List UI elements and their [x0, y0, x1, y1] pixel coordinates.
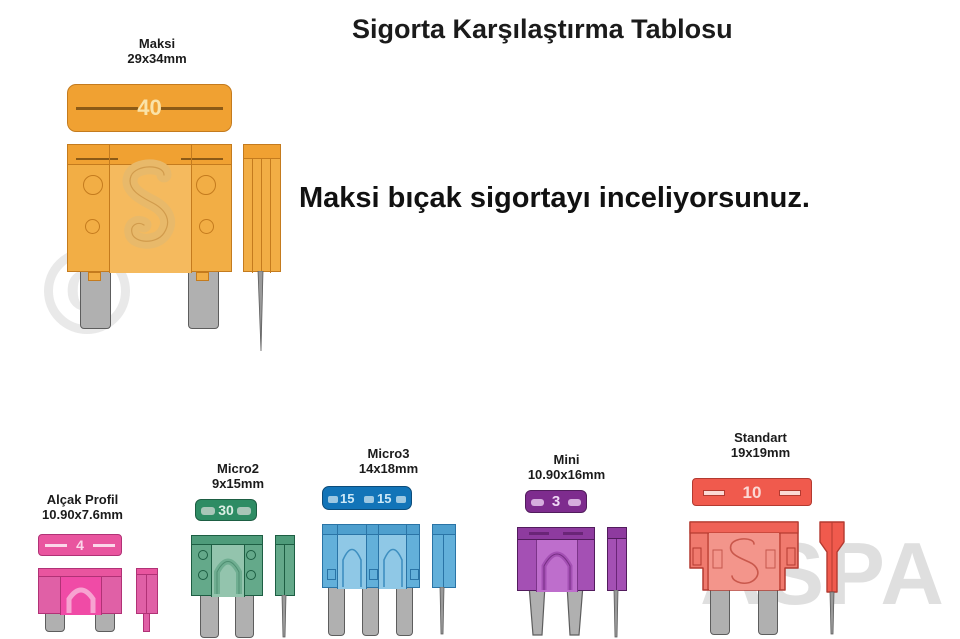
fuse-micro3-slot-right — [396, 496, 406, 503]
fuse-maksi-sideview — [243, 144, 291, 354]
fuse-maksi-element-icon — [68, 145, 233, 273]
headline-text: Maksi bıçak sigortayı inceliyorsunuz. — [299, 182, 810, 215]
fuse-standart-body — [688, 520, 800, 592]
fuse-micro3-element-icon — [323, 525, 421, 589]
fuse-standart-frontview — [688, 520, 800, 638]
fuse-alcak-profil-rating: 4 — [76, 538, 84, 552]
fuse-micro3-topview: 15 15 — [322, 486, 412, 510]
fuse-standart-topview: 10 — [692, 478, 812, 506]
fuse-micro2-body — [191, 535, 263, 596]
fuse-maksi-slot-left — [76, 107, 138, 110]
fuse-micro2-slot-right — [237, 507, 251, 515]
fuse-mini-slot-left — [531, 499, 544, 506]
fuse-maksi-frontview — [67, 144, 232, 329]
fuse-alcak-profil-side-body — [136, 568, 158, 614]
fuse-maksi-joint-right — [196, 272, 209, 281]
fuse-micro3-rating: 15 — [340, 492, 354, 505]
fuse-micro2-side-cap — [276, 536, 294, 545]
fuse-micro2-frontview — [191, 535, 263, 639]
fuse-alcak-profil-slot-right — [93, 544, 115, 547]
page-title: Sigorta Karşılaştırma Tablosu — [352, 14, 733, 45]
fuse-alcak-profil-element-icon — [39, 569, 123, 615]
fuse-micro3-body — [322, 524, 420, 588]
fuse-micro3-side-blade — [437, 587, 453, 637]
fuse-maksi-name: Maksi — [77, 36, 237, 51]
fuse-micro3-blade-left — [328, 584, 345, 636]
fuse-micro2-rating: 30 — [218, 503, 234, 517]
fuse-alcak-profil-dimensions: 10.90x7.6mm — [20, 507, 145, 522]
fuse-alcak-profil-side-line — [146, 575, 147, 615]
fuse-maksi-slot-right — [161, 107, 223, 110]
fuse-alcak-profil-side-blade — [143, 613, 150, 632]
fuse-maksi-dimensions: 29x34mm — [77, 51, 237, 66]
fuse-alcak-profil-topview: 4 — [38, 534, 122, 556]
fuse-mini-side-line — [616, 539, 617, 592]
fuse-mini[interactable]: Mini 10.90x16mm 3 — [498, 452, 638, 639]
fuse-micro3-frontview — [322, 524, 420, 637]
fuse-micro2[interactable]: Micro2 9x15mm 30 — [183, 461, 318, 639]
fuse-maksi-side-line-1 — [252, 159, 253, 273]
fuse-micro2-side-line — [284, 545, 285, 597]
fuse-maksi-side-blade — [256, 271, 276, 353]
fuse-standart-side-body — [816, 520, 856, 638]
fuse-micro2-dimensions: 9x15mm — [183, 476, 293, 491]
fuse-micro3-slot-mid — [364, 496, 374, 503]
fuse-mini-topview: 3 — [525, 490, 587, 513]
fuse-alcak-profil-frontview — [38, 568, 122, 634]
fuse-micro3-slot-left — [328, 496, 338, 503]
fuse-maksi-body — [67, 144, 232, 272]
fuse-standart-slot-left — [703, 490, 725, 496]
fuse-mini-sideview — [603, 527, 637, 639]
fuse-standart-sideview — [816, 520, 856, 638]
fuse-micro2-side-body — [275, 535, 295, 596]
fuse-mini-side-body — [607, 527, 627, 591]
fuse-maksi-rating: 40 — [137, 97, 161, 119]
fuse-mini-side-cap — [608, 528, 626, 539]
fuse-micro2-blade-left — [200, 590, 219, 638]
fuse-micro2-blade-right — [235, 590, 254, 638]
fuse-standart-dimensions: 19x19mm — [698, 445, 823, 460]
fuse-mini-slot-right — [568, 499, 581, 506]
fuse-micro3-side-line — [443, 535, 444, 589]
fuse-micro2-side-blade — [279, 595, 295, 639]
fuse-maksi-topview: 40 — [67, 84, 232, 132]
fuse-standart-slot-right — [779, 490, 801, 496]
fuse-mini-name: Mini — [504, 452, 629, 467]
fuse-micro3-side-body — [432, 524, 456, 588]
fuse-standart-rating: 10 — [743, 484, 762, 501]
fuse-standart-name: Standart — [698, 430, 823, 445]
fuse-mini-element-icon — [518, 528, 596, 592]
fuse-micro3-dimensions: 14x18mm — [326, 461, 451, 476]
fuse-maksi-side-line-3 — [270, 159, 271, 273]
fuse-alcak-profil[interactable]: Alçak Profil 10.90x7.6mm 4 — [20, 492, 170, 639]
fuse-micro3-blade-mid — [362, 584, 379, 636]
fuse-mini-rating: 3 — [552, 494, 560, 509]
fuse-micro3-name: Micro3 — [326, 446, 451, 461]
fuse-mini-dimensions: 10.90x16mm — [504, 467, 629, 482]
fuse-micro3-rating-secondary: 15 — [377, 492, 391, 505]
fuse-mini-body — [517, 527, 595, 591]
fuse-micro3-blade-right — [396, 584, 413, 636]
fuse-maksi[interactable]: Maksi 29x34mm 40 — [55, 36, 305, 336]
fuse-micro2-name: Micro2 — [183, 461, 293, 476]
fuse-alcak-profil-body — [38, 568, 122, 614]
fuse-standart[interactable]: Standart 19x19mm 10 — [676, 430, 861, 639]
fuse-maksi-side-body — [243, 144, 281, 272]
fuse-maksi-side-line-2 — [261, 159, 262, 273]
fuse-micro3-side-cap — [433, 525, 455, 535]
fuse-mini-frontview — [517, 527, 595, 639]
fuse-micro3[interactable]: Micro3 14x18mm 15 15 — [320, 446, 480, 639]
fuse-micro2-slot-left — [201, 507, 215, 515]
fuse-comparison-chart: Sigorta Karşılaştırma Tablosu Maksi bıça… — [0, 0, 960, 639]
fuse-alcak-profil-side-cap — [137, 569, 157, 575]
fuse-mini-side-blade — [611, 590, 627, 639]
fuse-maksi-joint-left — [88, 272, 101, 281]
fuse-alcak-profil-sideview — [132, 568, 166, 634]
fuse-maksi-side-cap — [244, 145, 280, 159]
fuse-micro2-element-icon — [192, 536, 264, 597]
fuse-alcak-profil-name: Alçak Profil — [20, 492, 145, 507]
fuse-alcak-profil-slot-left — [45, 544, 67, 547]
fuse-micro2-sideview — [271, 535, 305, 639]
fuse-micro3-sideview — [428, 524, 464, 637]
fuse-micro2-topview: 30 — [195, 499, 257, 521]
